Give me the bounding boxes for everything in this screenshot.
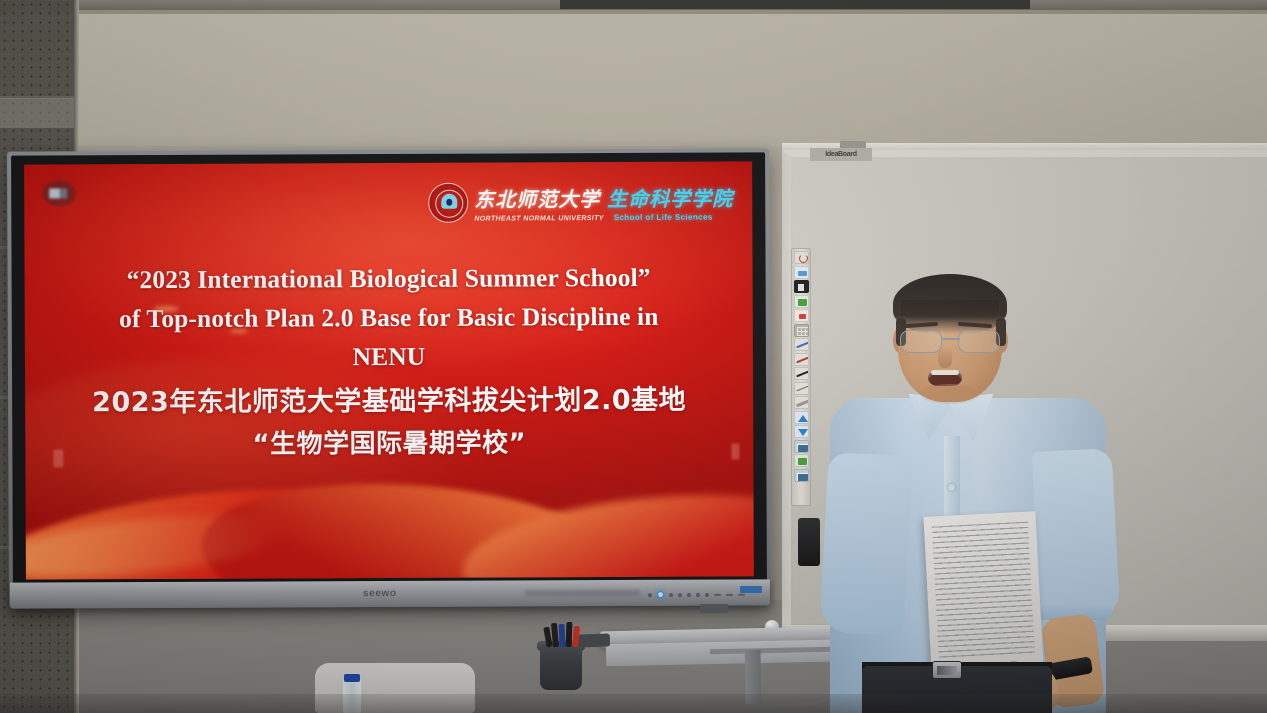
black-pen-stroke-icon[interactable] <box>794 367 809 380</box>
glasses-bridge <box>942 338 960 340</box>
blue-screen-icon[interactable] <box>794 469 809 482</box>
logo-university-en: NORTHEAST NORMAL UNIVERSITY <box>474 215 603 223</box>
control-button-4[interactable] <box>687 593 691 597</box>
nenu-university-crest-icon <box>428 183 468 223</box>
seewo-brand-label: seewo <box>363 588 397 599</box>
screen-glare-reflection <box>42 180 76 206</box>
control-bar-1[interactable] <box>714 593 721 595</box>
belt-buckle <box>932 661 962 679</box>
wall-trim <box>0 10 1267 14</box>
paper-text-lines <box>932 522 1035 659</box>
red-pen-icon[interactable] <box>794 309 809 322</box>
floor-shadow <box>0 694 1267 713</box>
pointer-icon[interactable] <box>794 266 809 279</box>
logo-college-en: School of Life Sciences <box>614 212 713 221</box>
bezel-blue-badge <box>740 586 762 593</box>
shirt-button-1 <box>948 484 955 491</box>
slide-body: “2023 International Biological Summer Sc… <box>25 257 754 465</box>
display-control-buttons[interactable] <box>648 591 745 598</box>
nose <box>938 346 952 368</box>
logo-university-cn: 东北师范大学 <box>474 183 600 213</box>
speaker-presenter <box>840 268 1100 713</box>
eraser-stroke-icon[interactable] <box>794 396 809 409</box>
whiteboard-toolbar[interactable] <box>791 248 811 506</box>
control-button-5[interactable] <box>696 592 700 596</box>
lens-right <box>958 330 1000 353</box>
arrow-up-icon[interactable] <box>794 411 809 424</box>
thin-pen-stroke-icon[interactable] <box>794 382 809 395</box>
presentation-screen[interactable]: 东北师范大学 生命科学学院 NORTHEAST NORMAL UNIVERSIT… <box>24 161 754 579</box>
grid-icon[interactable] <box>794 324 809 337</box>
slide-title-en-line-3: NENU <box>51 336 727 378</box>
control-button-3[interactable] <box>678 593 682 597</box>
arrow-down-icon[interactable] <box>794 425 809 438</box>
screen-edge-glare-right <box>731 443 739 459</box>
slide-title-cn-line-2: “生物学国际暑期学校” <box>51 423 727 466</box>
slide-title-en-line-1: “2023 International Biological Summer Sc… <box>51 258 727 300</box>
whiteboard-device-label: IdeaBoard <box>810 148 872 161</box>
slide-logo: 东北师范大学 生命科学学院 NORTHEAST NORMAL UNIVERSIT… <box>428 177 736 226</box>
left-sleeve <box>819 452 912 636</box>
ceiling-recess <box>560 0 1030 9</box>
right-sleeve <box>1032 448 1121 624</box>
classroom-presentation-scene: IdeaBoard <box>0 0 1267 713</box>
power-button[interactable] <box>657 591 664 598</box>
marker-pen-holder <box>540 645 582 690</box>
display-foot <box>700 604 728 613</box>
control-button-2[interactable] <box>669 593 673 597</box>
control-button-1[interactable] <box>648 593 652 597</box>
blue-pen-stroke-icon[interactable] <box>794 338 809 351</box>
screen-glare-spot-2 <box>230 329 248 334</box>
bezel-model-text <box>525 590 640 597</box>
slide-title-cn-line-1: 2023年东北师范大学基础学科拔尖计划2.0基地 <box>51 379 727 426</box>
control-bar-2[interactable] <box>726 593 733 595</box>
upper-wall <box>0 0 1267 150</box>
control-bar-3[interactable] <box>738 593 745 595</box>
pen-holder-arm <box>578 633 610 647</box>
screen-capture-icon[interactable] <box>794 440 809 453</box>
power-icon[interactable] <box>794 251 809 264</box>
logo-college-cn: 生命科学学院 <box>607 182 733 212</box>
chin <box>920 384 980 404</box>
green-check-icon[interactable] <box>794 454 809 467</box>
red-pen-stroke-icon[interactable] <box>794 353 809 366</box>
wall-speaker <box>798 518 820 566</box>
control-button-6[interactable] <box>705 592 709 596</box>
slide-title-en-line-2: of Top-notch Plan 2.0 Base for Basic Dis… <box>51 297 727 339</box>
bottle-cap <box>344 674 360 682</box>
marker-blue <box>559 624 566 647</box>
green-pen-icon[interactable] <box>794 295 809 308</box>
screen-edge-glare-left <box>53 449 63 467</box>
lens-left <box>900 330 942 353</box>
black-pen-icon[interactable] <box>794 280 809 293</box>
